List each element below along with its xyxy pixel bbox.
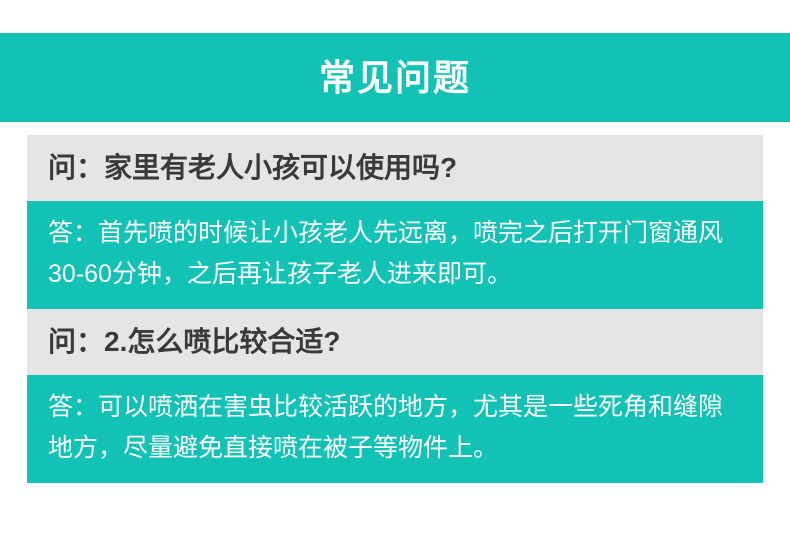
page-header-banner: 常见问题 (0, 33, 790, 122)
faq-question-block: 问：家里有老人小孩可以使用吗? (27, 135, 763, 201)
faq-answer-text: 答：可以喷洒在害虫比较活跃的地方，尤其是一些死角和缝隙地方，尽量避免直接喷在被子… (48, 387, 745, 469)
faq-question-text: 问：家里有老人小孩可以使用吗? (48, 150, 743, 185)
page-title: 常见问题 (319, 60, 471, 96)
faq-item: 问：家里有老人小孩可以使用吗? 答：首先喷的时候让小孩老人先远离，喷完之后打开门… (27, 135, 763, 309)
faq-answer-block: 答：可以喷洒在害虫比较活跃的地方，尤其是一些死角和缝隙地方，尽量避免直接喷在被子… (27, 375, 763, 483)
faq-answer-text: 答：首先喷的时候让小孩老人先远离，喷完之后打开门窗通风30-60分钟，之后再让孩… (48, 213, 745, 295)
faq-question-block: 问：2.怎么喷比较合适? (27, 309, 763, 375)
faq-question-text: 问：2.怎么喷比较合适? (48, 324, 743, 359)
faq-list: 问：家里有老人小孩可以使用吗? 答：首先喷的时候让小孩老人先远离，喷完之后打开门… (27, 135, 763, 483)
faq-item: 问：2.怎么喷比较合适? 答：可以喷洒在害虫比较活跃的地方，尤其是一些死角和缝隙… (27, 309, 763, 483)
faq-page: 常见问题 问：家里有老人小孩可以使用吗? 答：首先喷的时候让小孩老人先远离，喷完… (0, 0, 790, 540)
faq-answer-block: 答：首先喷的时候让小孩老人先远离，喷完之后打开门窗通风30-60分钟，之后再让孩… (27, 201, 763, 309)
